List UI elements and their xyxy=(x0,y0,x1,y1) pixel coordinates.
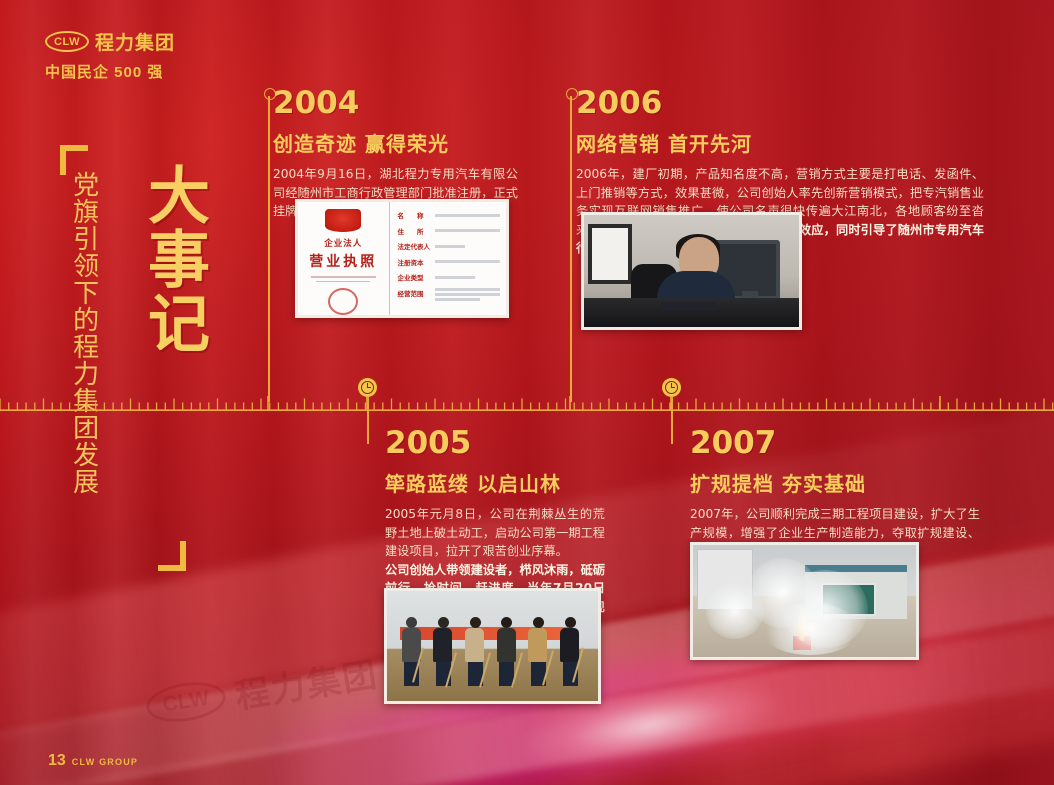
page-footer: 13 CLW GROUP xyxy=(48,752,138,770)
watermark-clw-icon: CLW xyxy=(143,677,228,727)
footer-brand: CLW GROUP xyxy=(72,757,138,767)
event-headline: 扩规提档 夯实基础 xyxy=(690,468,980,497)
event-headline: 网络营销 首开先河 xyxy=(576,128,984,157)
groundbreaking-ceremony-photo xyxy=(384,588,601,704)
national-emblem-icon xyxy=(325,209,361,232)
license-fields: 名 称 住 所 法定代表人 注册资本 企业类型 经营范围 营业期限 xyxy=(390,202,506,315)
event-headline: 创造奇迹 赢得荣光 xyxy=(273,128,518,157)
factory-celebration-photo xyxy=(690,542,919,660)
timeline-ruler xyxy=(0,396,1054,412)
brand-logo: CLW 程力集团 中国民企 500 强 xyxy=(45,28,175,82)
online-marketing-office-photo xyxy=(581,212,802,330)
watermark-logo: CLW 程力集团 xyxy=(143,647,382,732)
license-seal-icon xyxy=(328,288,358,315)
event-year: 2004 xyxy=(273,88,518,119)
stem-2006 xyxy=(570,96,572,402)
company-tagline: 中国民企 500 强 xyxy=(45,61,175,82)
brochure-page: CLW 程力集团 中国民企 500 强 大事记 党旗引领下的程力集团发展 CLW… xyxy=(0,0,1054,785)
event-year: 2005 xyxy=(385,428,605,459)
page-subtitle: 党旗引领下的程力集团发展 xyxy=(68,171,99,495)
event-year: 2007 xyxy=(690,428,980,459)
watermark-company-name: 程力集团 xyxy=(231,647,381,718)
stem-2004 xyxy=(268,96,270,402)
clw-mark-icon: CLW xyxy=(45,31,89,52)
bracket-bottom-right-icon xyxy=(158,541,186,571)
clock-icon-2005 xyxy=(358,378,377,397)
event-body-text-1: 2005年元月8日，公司在荆棘丛生的荒野土地上破土动工，启动公司第一期工程建设项… xyxy=(385,507,605,558)
stem-2007 xyxy=(671,396,673,444)
page-title: 大事记 xyxy=(142,163,205,355)
license-title-large: 营业执照 xyxy=(309,251,377,271)
business-license-photo: 企业法人 营业执照 名 称 住 所 法定代表人 注册资本 企业类型 经营范围 营… xyxy=(295,199,509,318)
event-year: 2006 xyxy=(576,88,984,119)
page-number: 13 xyxy=(48,752,66,770)
stem-2005 xyxy=(367,396,369,444)
vertical-title-block: 大事记 党旗引领下的程力集团发展 xyxy=(60,145,205,565)
event-headline: 筚路蓝缕 以启山林 xyxy=(385,468,605,497)
clock-icon-2007 xyxy=(662,378,681,397)
company-name: 程力集团 xyxy=(95,28,175,55)
license-title-small: 企业法人 xyxy=(324,237,362,249)
